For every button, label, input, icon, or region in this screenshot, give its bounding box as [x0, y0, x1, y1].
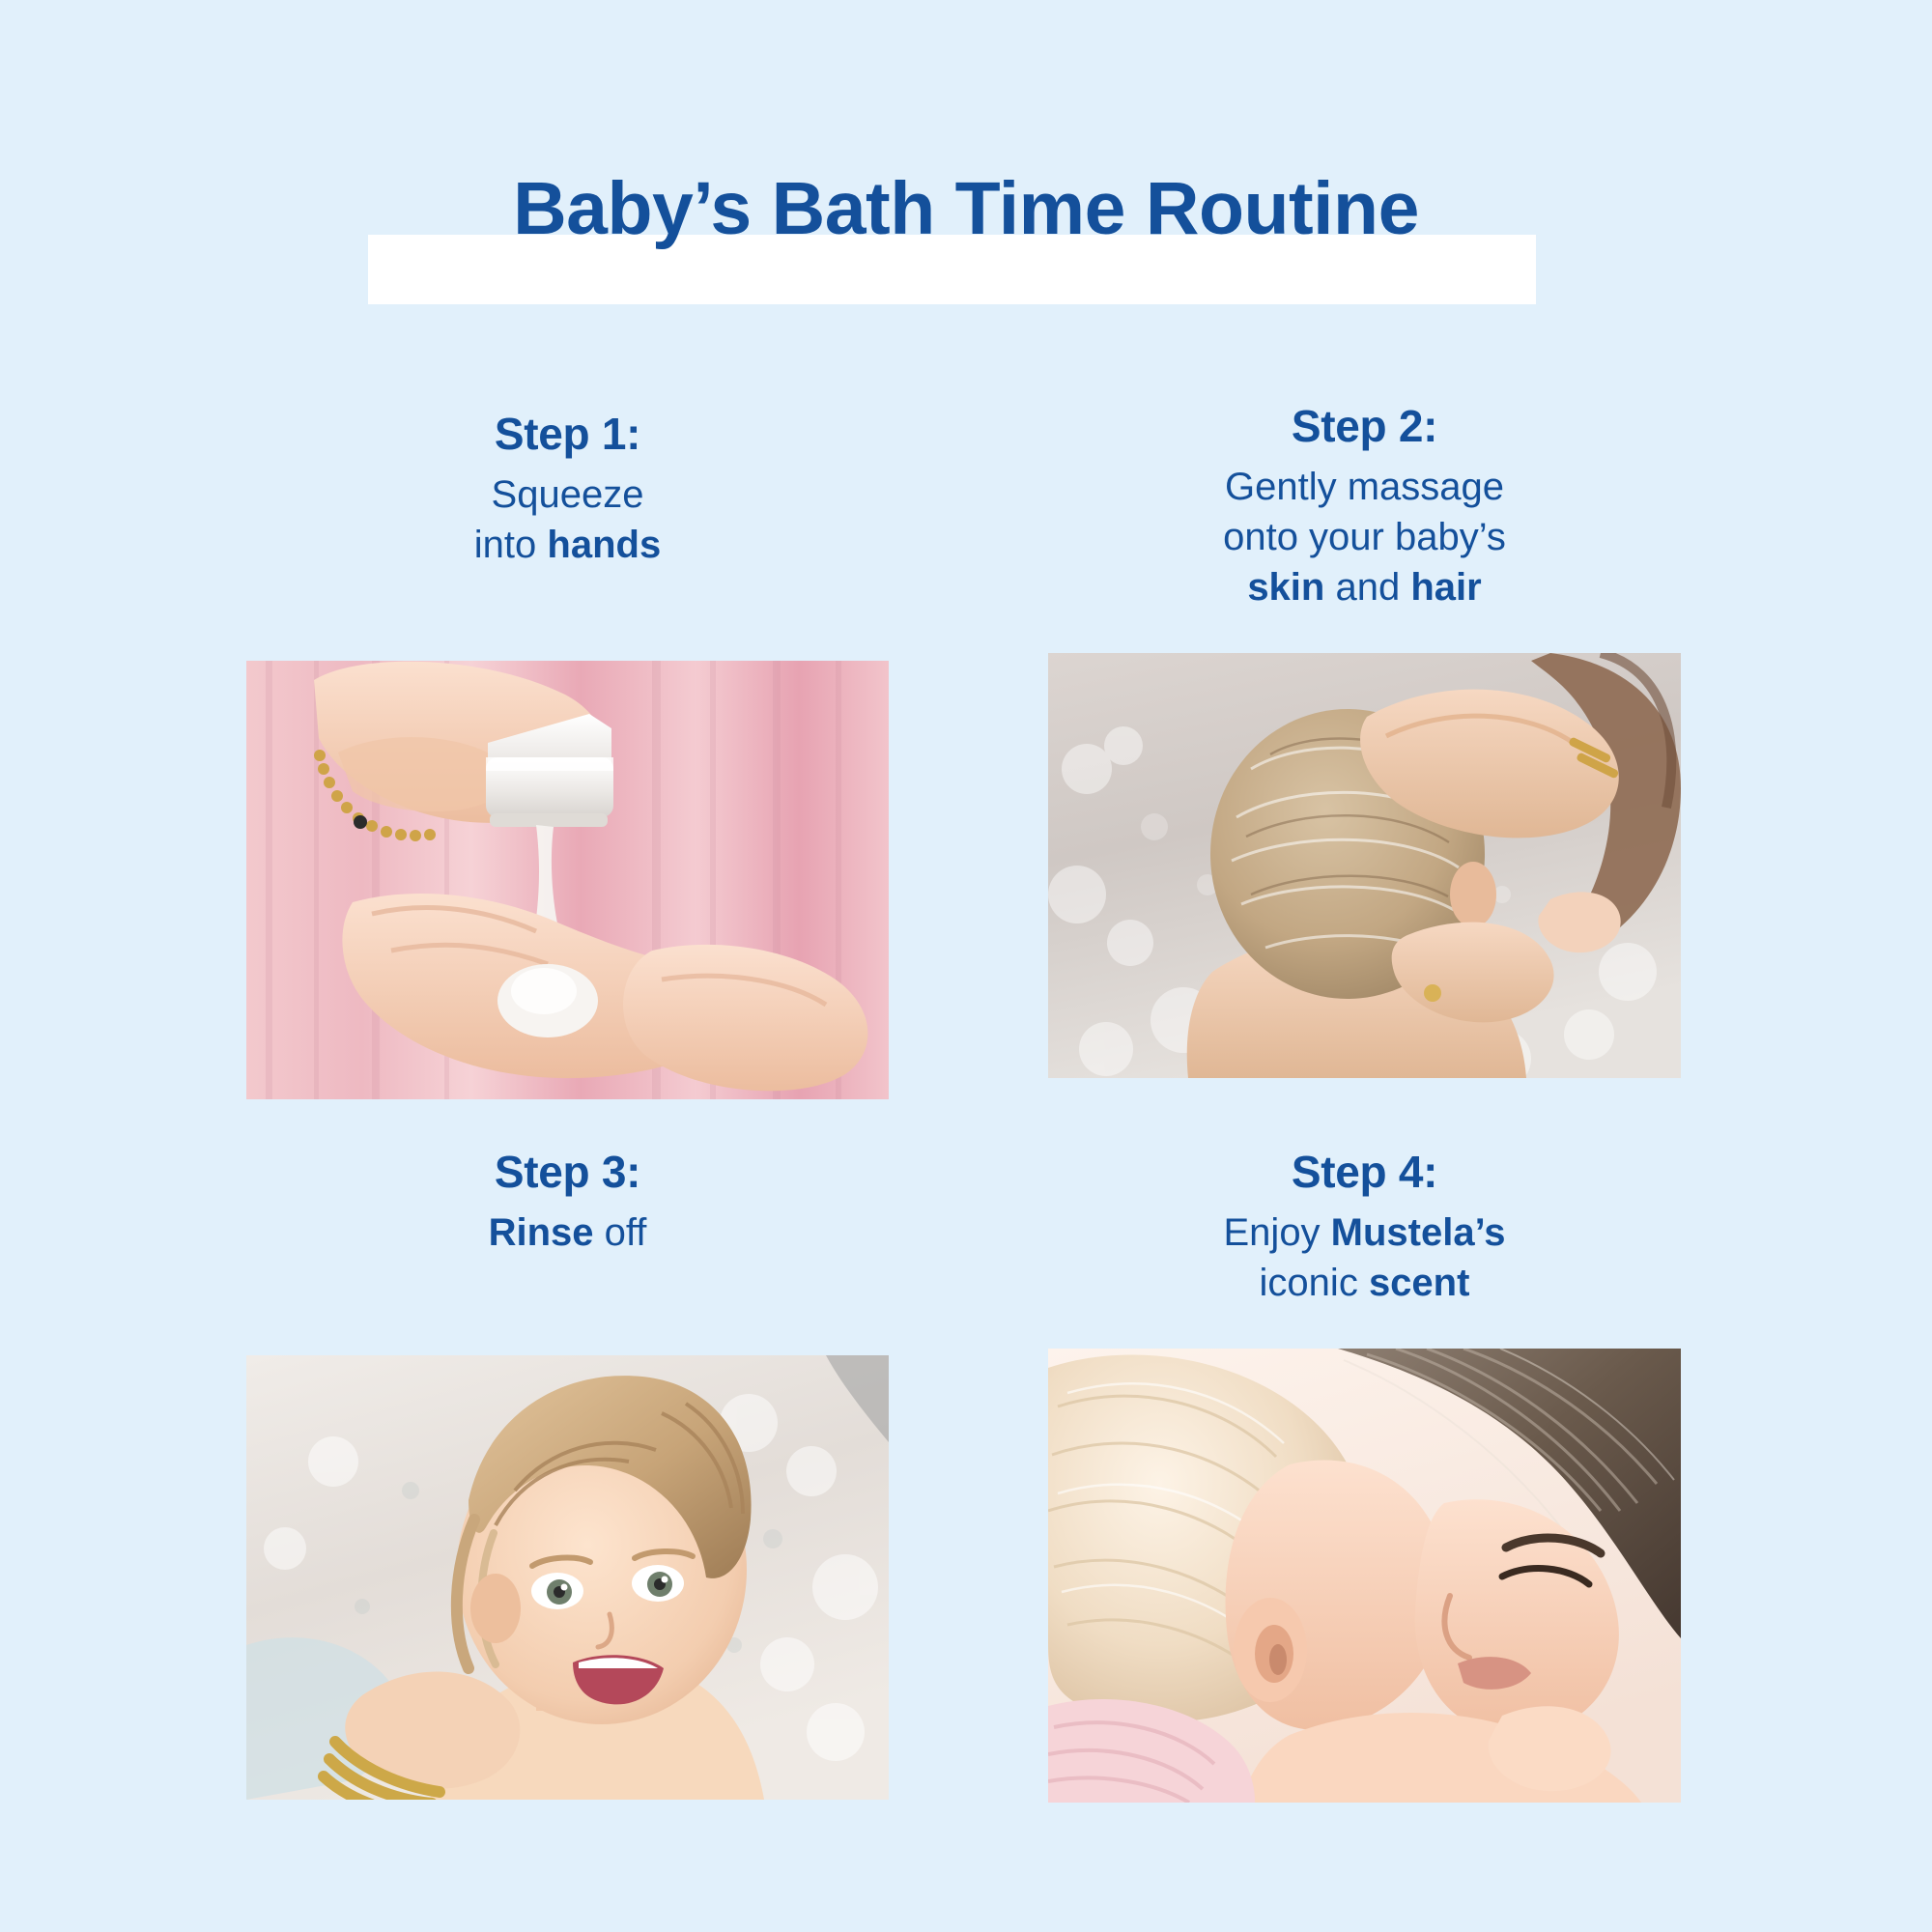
page-title: Baby’s Bath Time Routine: [0, 162, 1932, 255]
step-2-body: Gently massageonto your baby’sskin and h…: [1048, 462, 1681, 612]
caption-text: off: [594, 1211, 647, 1254]
caption-line: skin and hair: [1048, 562, 1681, 612]
caption-text: into: [474, 524, 548, 566]
caption-emphasis: hands: [547, 524, 661, 566]
caption-line: into hands: [246, 520, 889, 570]
step-2-heading: Step 2:: [1048, 398, 1681, 456]
step-3-caption: Step 3: Rinse off: [246, 1144, 889, 1258]
caption-text: Enjoy: [1224, 1211, 1331, 1254]
caption-line: Gently massage: [1048, 462, 1681, 512]
caption-text: and: [1324, 566, 1410, 609]
caption-line: onto your baby’s: [1048, 512, 1681, 562]
infographic-poster: Baby’s Bath Time Routine Step 1: Squeeze…: [0, 0, 1932, 1932]
step-4-caption: Step 4: Enjoy Mustela’siconic scent: [1048, 1144, 1681, 1308]
caption-line: iconic scent: [1048, 1258, 1681, 1308]
caption-text: iconic: [1260, 1262, 1369, 1304]
step-3-photo: [246, 1355, 889, 1800]
caption-emphasis: skin: [1247, 566, 1324, 609]
caption-line: Rinse off: [246, 1207, 889, 1258]
step-1-caption: Step 1: Squeezeinto hands: [246, 406, 889, 570]
step-4-heading: Step 4:: [1048, 1144, 1681, 1202]
step-1-body: Squeezeinto hands: [246, 469, 889, 570]
caption-emphasis: Rinse: [489, 1211, 594, 1254]
caption-emphasis: Mustela’s: [1331, 1211, 1506, 1254]
caption-text: Gently massage: [1225, 466, 1504, 508]
step-1-heading: Step 1:: [246, 406, 889, 464]
caption-emphasis: hair: [1410, 566, 1481, 609]
step-4-body: Enjoy Mustela’siconic scent: [1048, 1207, 1681, 1308]
caption-text: onto your baby’s: [1223, 516, 1506, 558]
step-3-body: Rinse off: [246, 1207, 889, 1258]
caption-line: Squeeze: [246, 469, 889, 520]
caption-line: Enjoy Mustela’s: [1048, 1207, 1681, 1258]
step-1-photo: [246, 661, 889, 1099]
step-2-photo: [1048, 653, 1681, 1078]
step-2-caption: Step 2: Gently massageonto your baby’ssk…: [1048, 398, 1681, 612]
caption-text: Squeeze: [492, 473, 644, 516]
step-3-heading: Step 3:: [246, 1144, 889, 1202]
caption-emphasis: scent: [1369, 1262, 1470, 1304]
step-4-photo: [1048, 1349, 1681, 1803]
